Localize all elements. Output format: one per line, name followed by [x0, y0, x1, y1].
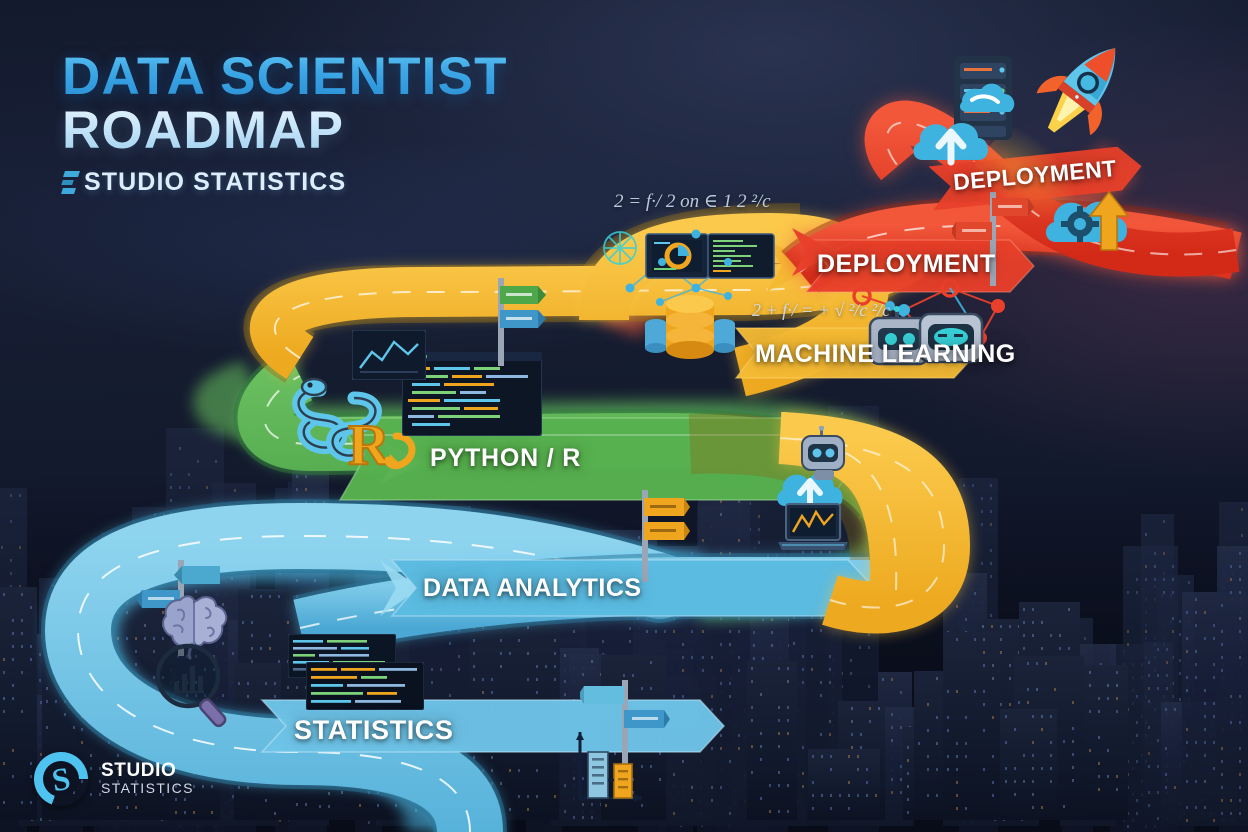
formula-annotation-ml: 2 + f·/ = + √ ²/c ²/c	[752, 300, 890, 321]
studio-statistics-s-logo-icon	[62, 169, 79, 195]
up-arrow-icon	[1088, 190, 1130, 252]
stage-label-machine-learning: MACHINE LEARNING	[755, 340, 1016, 369]
page-title-line1: DATA SCIENTIST	[62, 52, 508, 102]
database-stack-icon	[640, 290, 740, 362]
stage-label-python-r: PYTHON / R	[430, 444, 581, 473]
magnifier-bar-chart-icon	[150, 640, 236, 732]
code-terminal-icon-2	[306, 662, 424, 710]
signpost-icon-data-analytics	[600, 486, 690, 582]
svg-text:R: R	[348, 412, 391, 477]
stage-label-deployment: DEPLOYMENT	[817, 250, 996, 279]
brand-logo: S STUDIO STATISTICS	[34, 752, 194, 806]
page-title-line2: ROADMAP	[62, 104, 508, 158]
subtitle-row: STUDIO STATISTICS	[62, 168, 508, 197]
formula-annotation-top: 2 = f·/ 2 on ∈ 1 2 ²/c	[614, 190, 771, 213]
laptop-chart-icon	[778, 500, 848, 556]
robot-head-icon	[796, 426, 854, 488]
stage-label-statistics: STATISTICS	[294, 715, 454, 746]
brand-name-line2: STATISTICS	[101, 781, 194, 796]
studio-statistics-logo-icon: S	[34, 752, 88, 806]
bar-chart-axis-icon	[570, 728, 646, 808]
infographic-canvas: DATA SCIENTIST ROADMAP STUDIO STATISTICS…	[0, 0, 1248, 832]
brand-name: STUDIO STATISTICS	[101, 761, 194, 796]
stage-label-data-analytics: DATA ANALYTICS	[423, 574, 642, 603]
page-subtitle: STUDIO STATISTICS	[84, 168, 346, 197]
logo-s-glyph: S	[49, 762, 72, 797]
brand-name-line1: STUDIO	[101, 761, 194, 781]
mini-chart-panel-icon	[352, 330, 426, 380]
title-block: DATA SCIENTIST ROADMAP STUDIO STATISTICS	[62, 52, 508, 197]
signpost-icon-python	[456, 272, 546, 368]
